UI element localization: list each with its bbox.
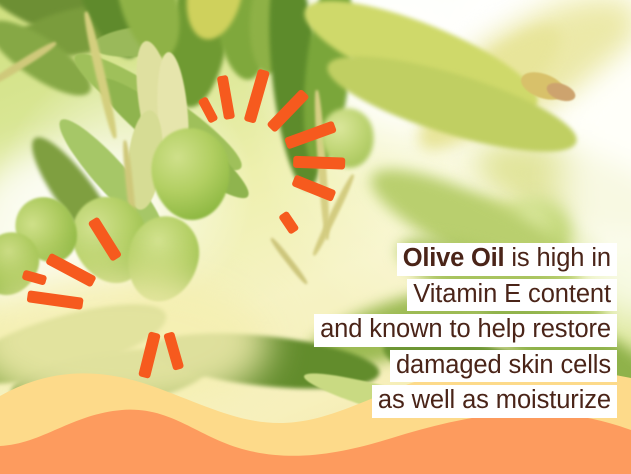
- caption-block: Olive Oil is high in Vitamin E content a…: [17, 243, 617, 418]
- caption-line-2-box: Vitamin E content: [407, 279, 617, 312]
- burst-ray: [293, 156, 345, 170]
- caption-line-4: damaged skin cells: [17, 350, 617, 383]
- poster-canvas: Olive Oil is high in Vitamin E content a…: [0, 0, 631, 474]
- caption-line-4-box: damaged skin cells: [390, 350, 617, 383]
- caption-line-1-box: Olive Oil is high in: [397, 243, 617, 276]
- caption-line-5: as well as moisturize: [17, 385, 617, 418]
- caption-line-1-rest: is high in: [504, 244, 611, 272]
- caption-line-3: and known to help restore: [17, 314, 617, 347]
- caption-line-5-box: as well as moisturize: [372, 385, 617, 418]
- caption-line-3-box: and known to help restore: [314, 314, 617, 347]
- caption-line-2: Vitamin E content: [17, 279, 617, 312]
- caption-emphasis-olive-oil: Olive Oil: [403, 244, 505, 272]
- caption-line-1: Olive Oil is high in: [17, 243, 617, 276]
